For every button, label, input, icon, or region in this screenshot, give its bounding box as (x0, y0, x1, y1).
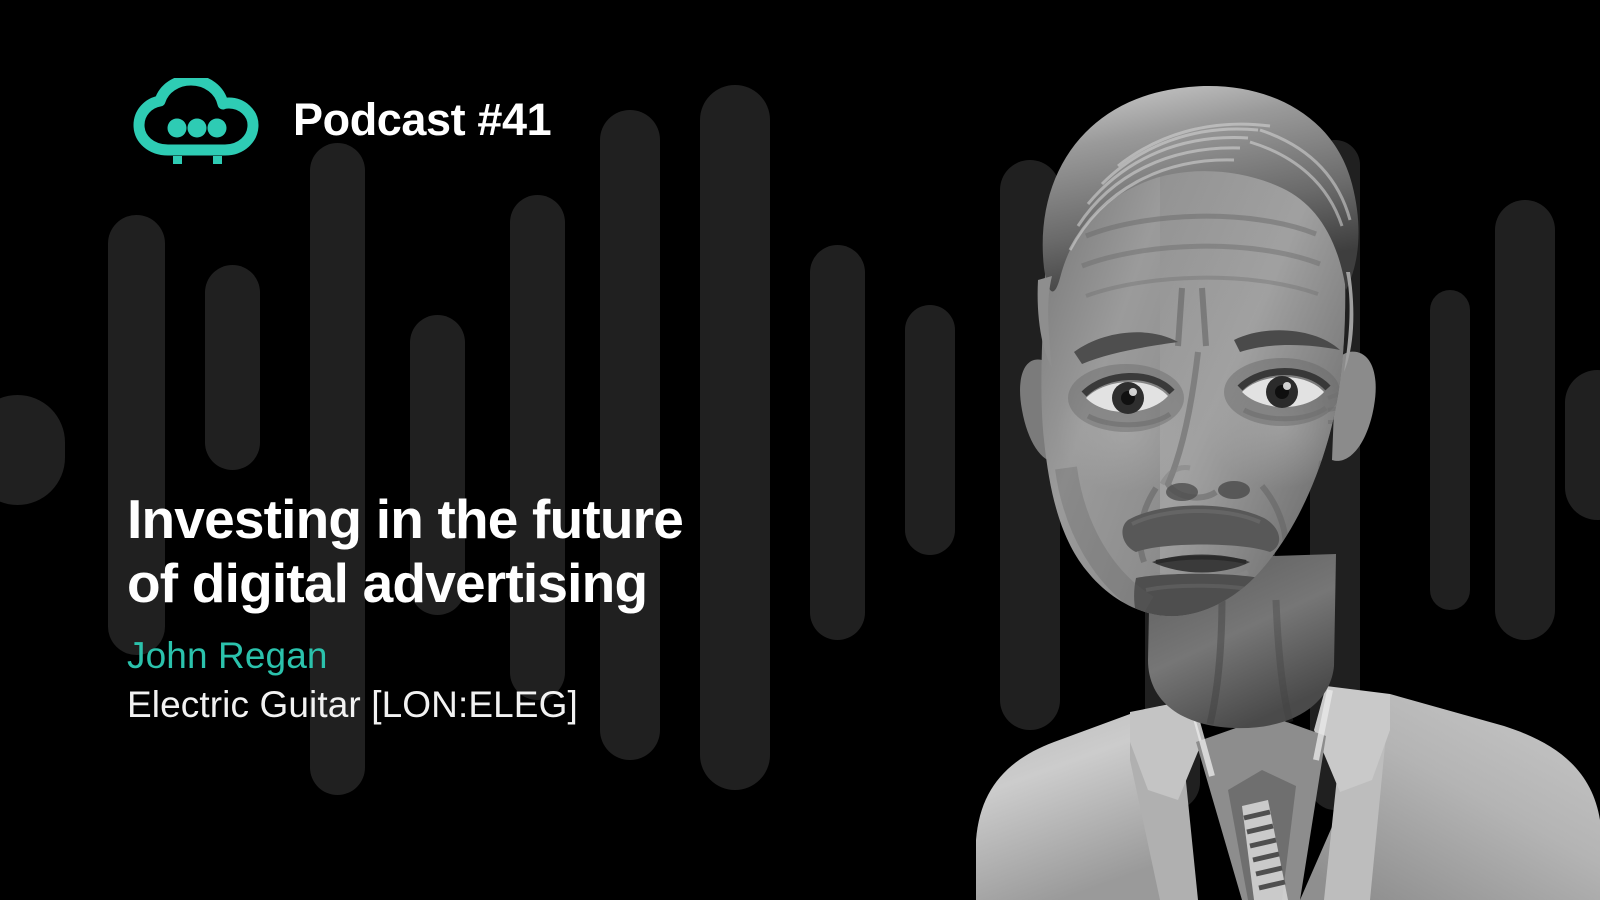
speaker-portrait (830, 0, 1600, 900)
header: Podcast #41 (127, 78, 551, 164)
speaker-company: Electric Guitar [LON:ELEG] (127, 681, 887, 728)
podcast-episode-label: Podcast #41 (293, 97, 551, 146)
episode-title: Investing in the future of digital adver… (127, 488, 887, 616)
speaker-name: John Regan (127, 632, 887, 679)
waveform-bar (205, 265, 260, 470)
podcast-promo-card: Podcast #41 Investing in the future of d… (0, 0, 1600, 900)
episode-title-line-2: of digital advertising (127, 552, 887, 616)
episode-info: Investing in the future of digital adver… (127, 488, 887, 728)
cloud-three-dots-icon (127, 78, 267, 164)
episode-title-line-1: Investing in the future (127, 488, 887, 552)
speaker-portrait-image (830, 0, 1600, 900)
waveform-bar (0, 395, 65, 505)
